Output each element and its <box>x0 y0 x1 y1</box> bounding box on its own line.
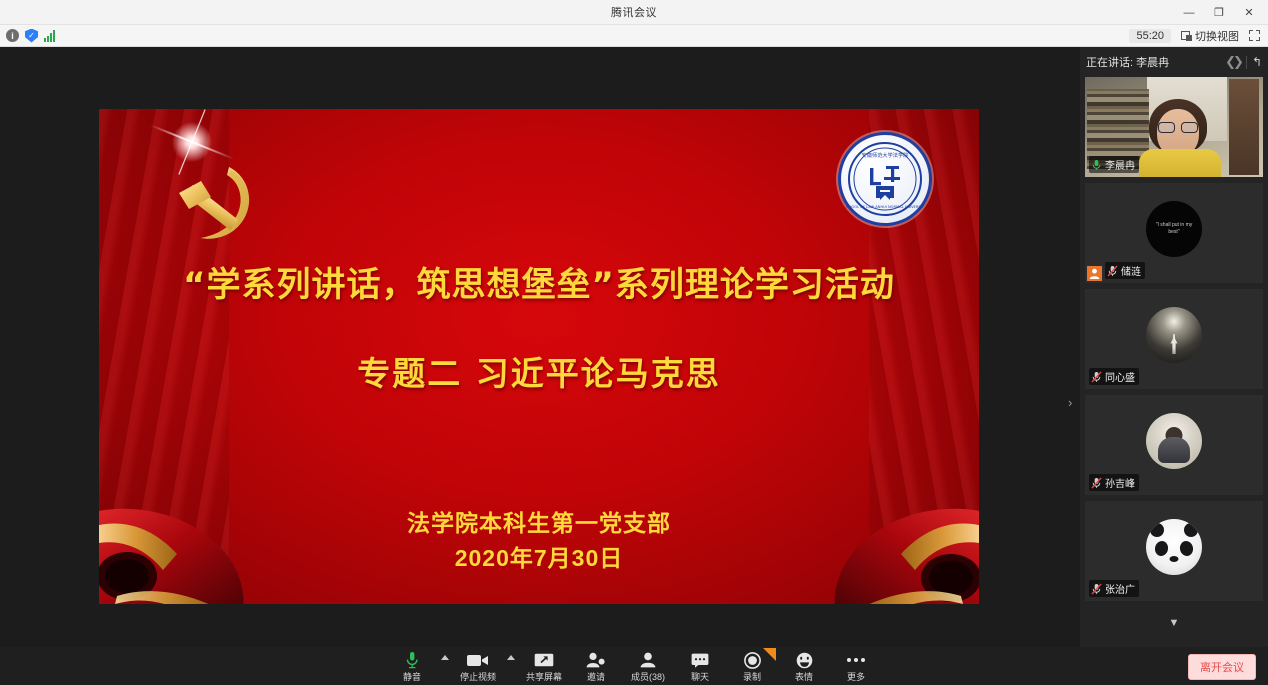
participant-tile-speaker[interactable]: 李晨冉 <box>1085 77 1263 177</box>
back-arrow-icon[interactable]: ↰ <box>1252 55 1262 69</box>
invite-person-icon <box>586 651 606 669</box>
record-button[interactable]: 录制 <box>726 649 778 683</box>
participant-tile-host[interactable]: "I shall put in my best" 储涟 <box>1085 183 1263 283</box>
avatar <box>1146 307 1202 363</box>
university-logo-icon: 安徽师范大学法学院 SCHOOL OF LAW ANHUI NORMAL UNI… <box>841 135 929 223</box>
microphone-icon <box>1091 159 1102 171</box>
minimize-button[interactable]: — <box>1174 0 1204 25</box>
avatar: "I shall put in my best" <box>1146 201 1202 257</box>
participant-tiles: 李晨冉 "I shall put in my best" 储涟 <box>1080 77 1268 632</box>
emoji-label: 表情 <box>795 670 813 683</box>
emoji-smile-icon <box>796 651 813 669</box>
record-label: 录制 <box>743 670 761 683</box>
more-dots-icon <box>846 651 866 669</box>
window-title-bar: 腾讯会议 — ❐ ✕ <box>0 0 1268 25</box>
members-label: 成员(38) <box>631 670 665 683</box>
chat-button[interactable]: 聊天 <box>674 649 726 683</box>
invite-button[interactable]: 邀请 <box>570 649 622 683</box>
signal-icon[interactable] <box>44 30 55 42</box>
record-new-flag <box>763 648 776 661</box>
participant-sidebar: 正在讲话: 李晨冉 ❮❯ ↰ <box>1080 47 1268 647</box>
stop-video-button[interactable]: 停止视频 <box>452 649 504 683</box>
avatar-quote-text: "I shall put in my best" <box>1146 222 1202 237</box>
participant-name: 孙吉峰 <box>1105 475 1135 490</box>
participant-name-chip: 孙吉峰 <box>1089 474 1139 491</box>
slide-organization: 法学院本科生第一党支部 <box>99 504 979 538</box>
microphone-muted-icon <box>1091 371 1102 383</box>
share-screen-label: 共享屏幕 <box>526 670 562 683</box>
shared-screen-stage: 安徽师范大学法学院 SCHOOL OF LAW ANHUI NORMAL UNI… <box>0 47 1080 647</box>
more-button[interactable]: 更多 <box>830 649 882 683</box>
chat-bubble-icon <box>691 651 709 669</box>
participant-name-chip: 张治广 <box>1089 580 1139 597</box>
window-controls: — ❐ ✕ <box>1174 0 1264 25</box>
microphone-muted-icon <box>1091 583 1102 595</box>
video-person <box>1135 99 1221 177</box>
video-door <box>1229 79 1259 175</box>
mute-options-caret[interactable] <box>438 649 452 660</box>
divider <box>1246 56 1247 69</box>
avatar <box>1146 519 1202 575</box>
switch-view-label: 切换视图 <box>1195 28 1239 44</box>
meeting-status-icons: i ✓ <box>0 29 55 43</box>
slide-subtitle: 专题二 习近平论马克思 <box>99 347 979 395</box>
slide-title: “学系列讲话，筑思想堡垒”系列理论学习活动 <box>99 257 979 306</box>
fullscreen-icon[interactable] <box>1249 30 1260 41</box>
toolbar-buttons: 静音 停止视频 <box>0 649 1268 683</box>
participant-name-chip: 储涟 <box>1105 262 1145 279</box>
participant-name: 李晨冉 <box>1105 157 1135 172</box>
participant-name-chip: 同心盛 <box>1089 368 1139 385</box>
participant-tile[interactable]: 孙吉峰 <box>1085 395 1263 495</box>
stop-video-label: 停止视频 <box>460 670 496 683</box>
participant-name-chip: 李晨冉 <box>1089 156 1139 173</box>
meeting-bar-right: 55:20 切换视图 <box>1129 28 1268 44</box>
tencent-meeting-window: 腾讯会议 — ❐ ✕ i ✓ 55:20 切换视图 <box>0 0 1268 685</box>
participant-name: 储涟 <box>1121 263 1141 278</box>
chat-label: 聊天 <box>691 670 709 683</box>
switch-view-button[interactable]: 切换视图 <box>1181 28 1239 44</box>
cpc-party-emblem-icon <box>157 145 267 255</box>
more-label: 更多 <box>847 670 865 683</box>
maximize-button[interactable]: ❐ <box>1204 0 1234 25</box>
microphone-muted-icon <box>1091 477 1102 489</box>
camera-icon <box>467 651 489 669</box>
chevron-collapse-icon[interactable]: ❮❯ <box>1225 54 1241 70</box>
scroll-down-icon[interactable]: ▼ <box>1080 614 1268 632</box>
svg-text:安徽师范大学法学院: 安徽师范大学法学院 <box>862 151 910 159</box>
info-icon[interactable]: i <box>6 29 19 42</box>
emoji-button[interactable]: 表情 <box>778 649 830 683</box>
meeting-toolbar: 静音 停止视频 <box>0 647 1268 685</box>
window-title: 腾讯会议 <box>611 4 657 20</box>
active-speaker-label: 正在讲话: 李晨冉 <box>1086 54 1169 70</box>
participant-name: 同心盛 <box>1105 369 1135 384</box>
mute-label: 静音 <box>403 670 421 683</box>
share-screen-button[interactable]: 共享屏幕 <box>518 649 570 683</box>
leave-meeting-button[interactable]: 离开会议 <box>1188 654 1256 680</box>
slide-date: 2020年7月30日 <box>99 539 979 573</box>
meeting-info-bar: i ✓ 55:20 切换视图 <box>0 25 1268 47</box>
members-icon <box>639 651 657 669</box>
microphone-icon <box>405 651 419 669</box>
microphone-muted-icon <box>1107 265 1118 277</box>
members-button[interactable]: 成员(38) <box>622 649 674 683</box>
shield-icon[interactable]: ✓ <box>25 29 38 43</box>
invite-label: 邀请 <box>587 670 605 683</box>
layout-icon <box>1181 31 1192 41</box>
participant-tile[interactable]: 同心盛 <box>1085 289 1263 389</box>
video-options-caret[interactable] <box>504 649 518 660</box>
close-button[interactable]: ✕ <box>1234 0 1264 25</box>
host-badge <box>1087 266 1102 281</box>
svg-text:SCHOOL OF LAW ANHUI NORMAL UNI: SCHOOL OF LAW ANHUI NORMAL UNIVERSITY <box>846 205 924 209</box>
avatar <box>1146 413 1202 469</box>
slide-next-arrow[interactable]: › <box>1068 395 1072 410</box>
participant-tile[interactable]: 张治广 <box>1085 501 1263 601</box>
mute-button[interactable]: 静音 <box>386 649 438 683</box>
meeting-timer: 55:20 <box>1129 29 1171 43</box>
participant-name: 张治广 <box>1105 581 1135 596</box>
active-speaker-bar: 正在讲话: 李晨冉 ❮❯ ↰ <box>1080 47 1268 77</box>
presentation-slide: 安徽师范大学法学院 SCHOOL OF LAW ANHUI NORMAL UNI… <box>99 109 979 604</box>
share-screen-icon <box>534 651 554 669</box>
sidebar-controls: ❮❯ ↰ <box>1225 54 1262 70</box>
record-circle-icon <box>744 651 761 669</box>
